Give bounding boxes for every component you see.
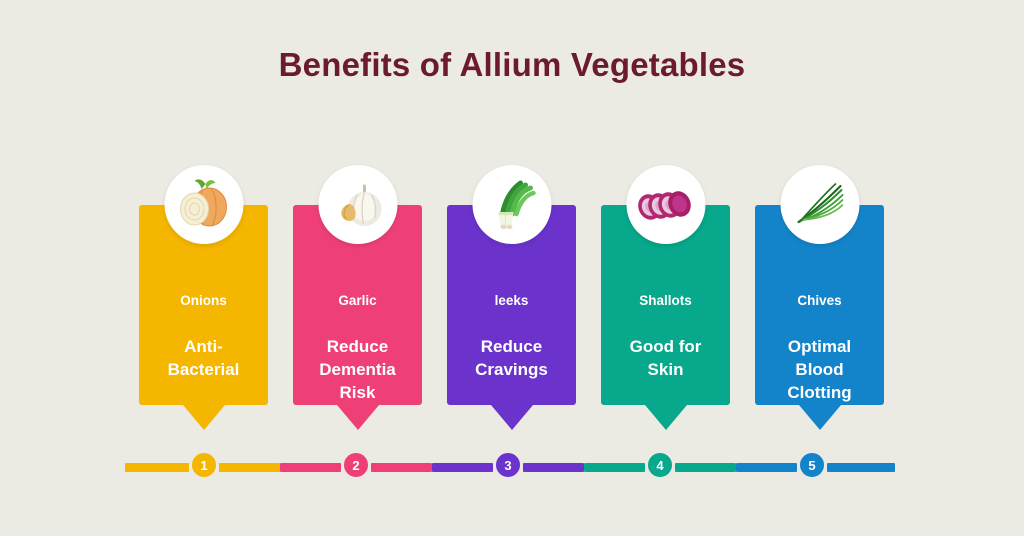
page-title: Benefits of Allium Vegetables: [0, 46, 1024, 84]
card-benefit-line: Reduce: [453, 335, 570, 358]
timeline-segment: [432, 463, 493, 472]
card-benefit-line: Good for: [607, 335, 724, 358]
card-vegetable-label: Shallots: [601, 293, 730, 308]
timeline-segment: [584, 463, 645, 472]
card-pointer-arrow: [799, 405, 841, 430]
card-benefit-line: Anti-: [145, 335, 262, 358]
card-benefit-line: Clotting: [761, 381, 878, 404]
card-pointer-arrow: [645, 405, 687, 430]
timeline-segment: [280, 463, 341, 472]
garlic-icon: [318, 165, 397, 244]
benefit-cards-row: OnionsAnti-Bacterial GarlicReduceDementi…: [139, 165, 885, 430]
benefit-card[interactable]: ChivesOptimalBloodClotting: [755, 205, 884, 405]
card-benefit-text: OptimalBloodClotting: [761, 335, 878, 404]
timeline-step-node[interactable]: 4: [645, 450, 675, 480]
timeline-step-node[interactable]: 2: [341, 450, 371, 480]
timeline-segment: [523, 463, 584, 472]
card-vegetable-label: Onions: [139, 293, 268, 308]
timeline-segment: [827, 463, 895, 472]
card-benefit-line: Bacterial: [145, 358, 262, 381]
benefit-card[interactable]: ShallotsGood forSkin: [601, 205, 730, 405]
card-vegetable-label: Chives: [755, 293, 884, 308]
benefit-card[interactable]: leeksReduceCravings: [447, 205, 576, 405]
benefit-card[interactable]: OnionsAnti-Bacterial: [139, 205, 268, 405]
shallot-slices-icon: [626, 165, 705, 244]
leek-icon: [472, 165, 551, 244]
card-benefit-line: Risk: [299, 381, 416, 404]
timeline-step-node[interactable]: 1: [189, 450, 219, 480]
timeline-segment: [219, 463, 280, 472]
timeline-segment: [736, 463, 797, 472]
card-benefit-line: Dementia: [299, 358, 416, 381]
infographic-canvas: Benefits of Allium Vegetables OnionsAnti…: [0, 0, 1024, 536]
card-benefit-text: ReduceDementiaRisk: [299, 335, 416, 404]
card-benefit-line: Blood: [761, 358, 878, 381]
benefit-card[interactable]: GarlicReduceDementiaRisk: [293, 205, 422, 405]
card-benefit-text: ReduceCravings: [453, 335, 570, 381]
card-benefit-line: Optimal: [761, 335, 878, 358]
card-benefit-text: Anti-Bacterial: [145, 335, 262, 381]
card-benefit-text: Good forSkin: [607, 335, 724, 381]
card-pointer-arrow: [491, 405, 533, 430]
card-pointer-arrow: [337, 405, 379, 430]
chives-icon: [780, 165, 859, 244]
timeline-segment: [371, 463, 432, 472]
timeline-segment: [125, 463, 189, 472]
card-vegetable-label: Garlic: [293, 293, 422, 308]
step-timeline: 12345: [125, 450, 895, 486]
card-vegetable-label: leeks: [447, 293, 576, 308]
card-benefit-line: Skin: [607, 358, 724, 381]
card-benefit-line: Reduce: [299, 335, 416, 358]
timeline-step-node[interactable]: 5: [797, 450, 827, 480]
timeline-step-node[interactable]: 3: [493, 450, 523, 480]
card-benefit-line: Cravings: [453, 358, 570, 381]
timeline-segment: [675, 463, 736, 472]
onion-icon: [164, 165, 243, 244]
card-pointer-arrow: [183, 405, 225, 430]
